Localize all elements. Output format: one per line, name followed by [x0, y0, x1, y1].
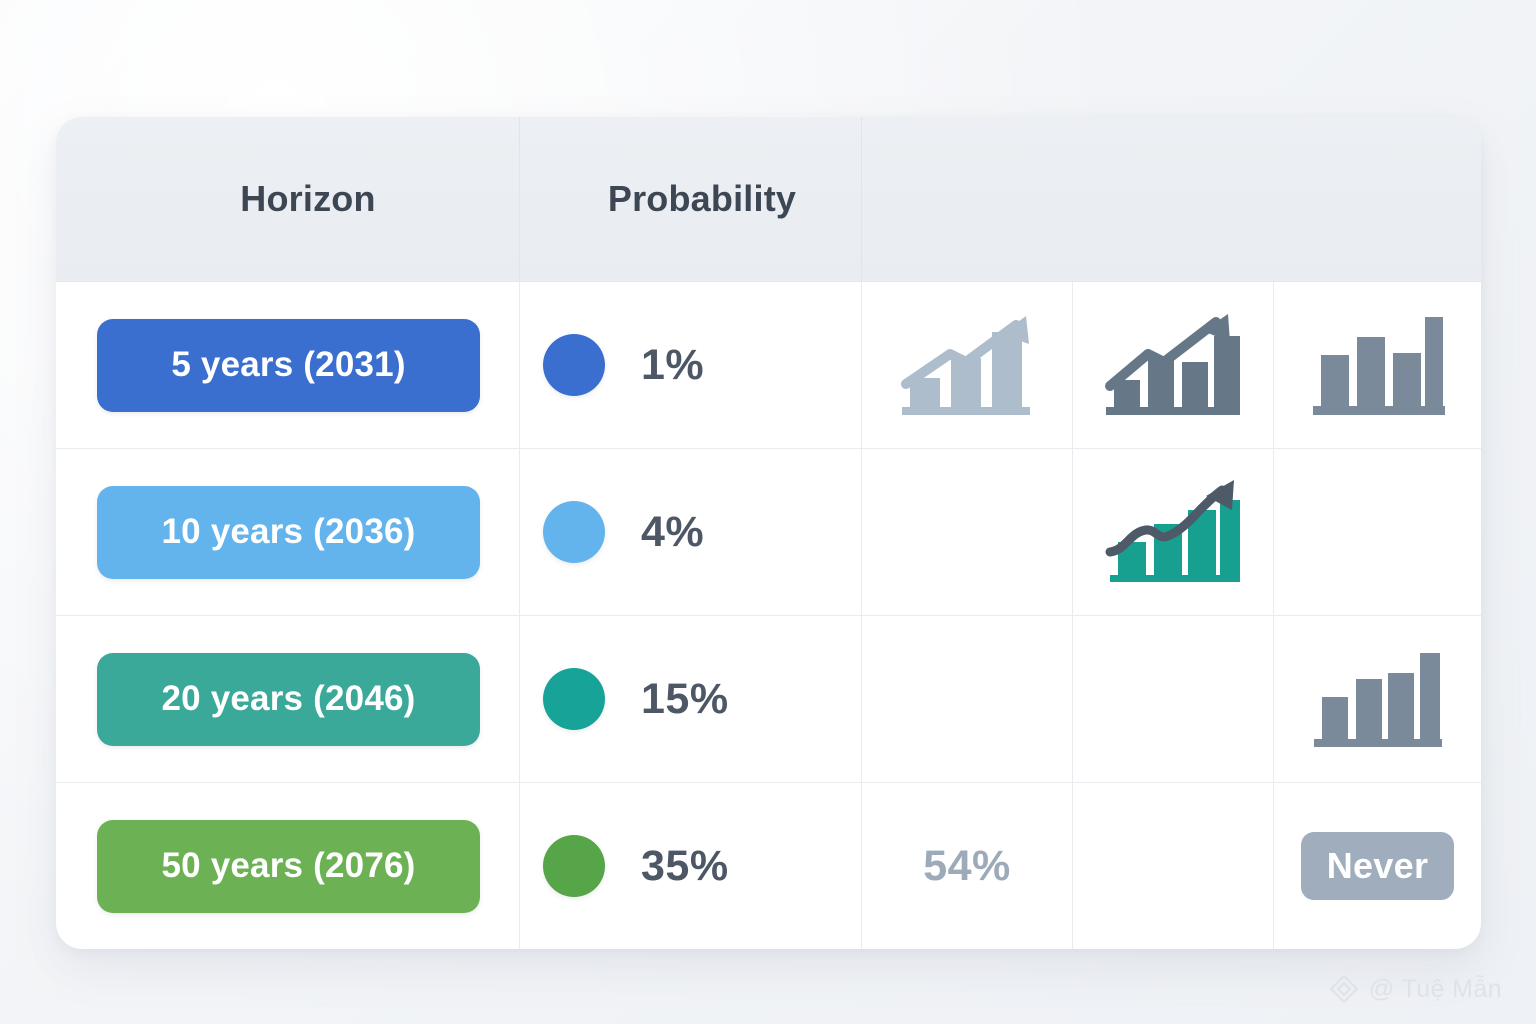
extra-percent-value: 54% [923, 842, 1011, 891]
watermark-handle: @ Tuệ Mẫn [1369, 975, 1502, 1004]
icon-cell-1 [861, 616, 1072, 782]
icon-cell-1 [861, 449, 1072, 615]
horizon-cell: 50 years (2076) [56, 783, 519, 949]
never-badge[interactable]: Never [1301, 832, 1455, 900]
icon-cell-3 [1273, 282, 1481, 448]
chart-growth-arrow-teal-icon [1104, 476, 1242, 588]
horizon-pill[interactable]: 10 years (2036) [97, 486, 480, 579]
chart-growth-arrow-dark-icon [1104, 310, 1242, 420]
never-cell: Never [1273, 783, 1481, 949]
diamond-logo-icon [1329, 974, 1359, 1004]
bar-chart-ascending-icon [1312, 647, 1444, 751]
table-body: 5 years (2031) 1% [56, 282, 1481, 949]
probability-value: 1% [641, 341, 704, 390]
horizon-probability-table: Horizon Probability 5 years (2031) 1% [56, 117, 1481, 949]
icon-cell-2 [1072, 282, 1273, 448]
probability-dot [543, 668, 605, 730]
column-header-probability: Probability [519, 117, 861, 281]
table-row: 20 years (2046) 15% [56, 616, 1481, 783]
probability-cell: 1% [519, 282, 861, 448]
icon-cell-2 [1072, 616, 1273, 782]
horizon-cell: 5 years (2031) [56, 282, 519, 448]
icon-cell-3 [1273, 616, 1481, 782]
probability-value: 15% [641, 675, 729, 724]
bar-chart-icon [1309, 311, 1447, 419]
horizon-pill[interactable]: 50 years (2076) [97, 820, 480, 913]
chart-growth-arrow-light-icon [898, 310, 1036, 420]
icon-cell-2 [1072, 783, 1273, 949]
horizon-pill[interactable]: 20 years (2046) [97, 653, 480, 746]
probability-value: 35% [641, 842, 729, 891]
horizon-pill[interactable]: 5 years (2031) [97, 319, 480, 412]
probability-value: 4% [641, 508, 704, 557]
table-row: 5 years (2031) 1% [56, 282, 1481, 449]
table-row: 50 years (2076) 35% 54% Never [56, 783, 1481, 949]
probability-cell: 15% [519, 616, 861, 782]
column-header-extra [861, 117, 1481, 281]
horizon-cell: 10 years (2036) [56, 449, 519, 615]
probability-dot [543, 835, 605, 897]
column-header-horizon: Horizon [56, 117, 519, 281]
watermark: @ Tuệ Mẫn [1329, 974, 1502, 1004]
probability-dot [543, 501, 605, 563]
icon-cell-1 [861, 282, 1072, 448]
probability-cell: 4% [519, 449, 861, 615]
horizon-cell: 20 years (2046) [56, 616, 519, 782]
probability-dot [543, 334, 605, 396]
probability-cell: 35% [519, 783, 861, 949]
extra-percent-cell: 54% [861, 783, 1072, 949]
icon-cell-3 [1273, 449, 1481, 615]
table-row: 10 years (2036) 4% [56, 449, 1481, 616]
table-header-row: Horizon Probability [56, 117, 1481, 282]
icon-cell-2 [1072, 449, 1273, 615]
